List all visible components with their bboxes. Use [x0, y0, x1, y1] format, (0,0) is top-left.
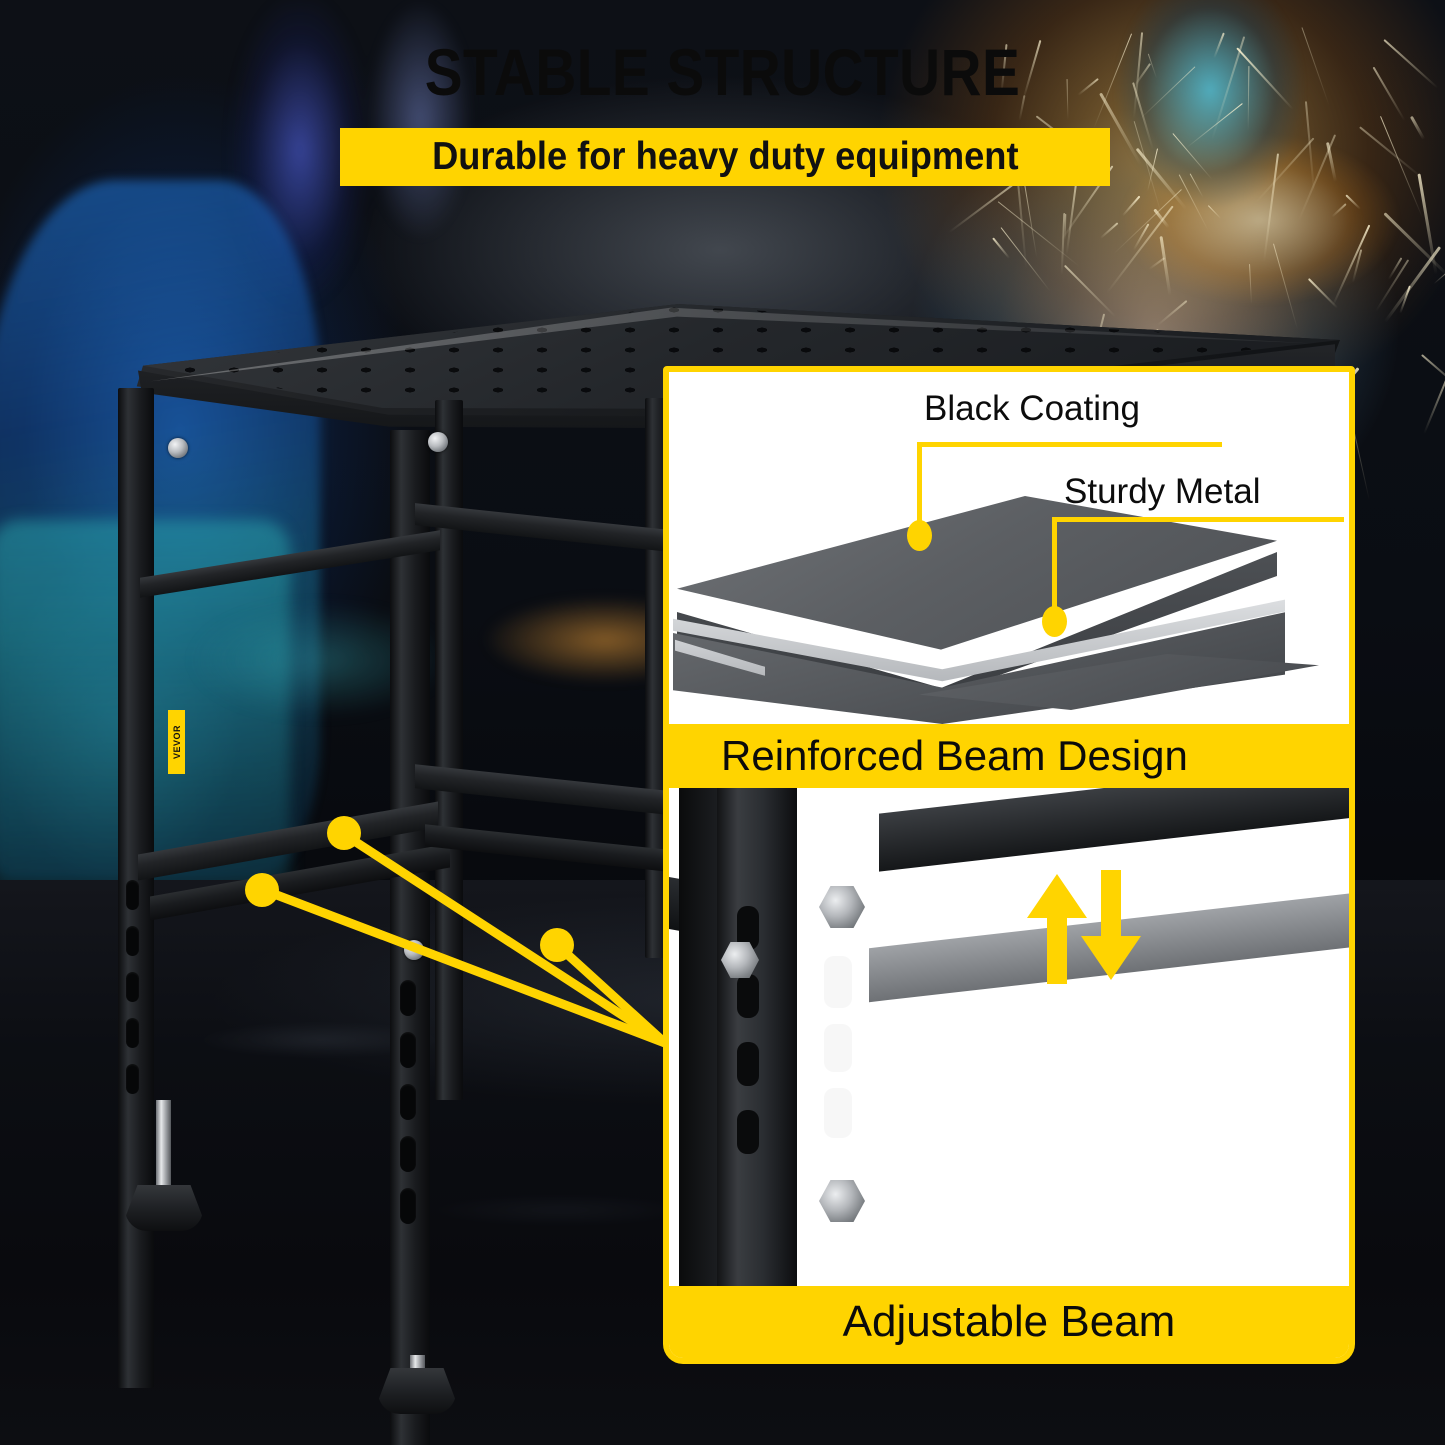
spark: [992, 237, 1010, 259]
adjustable-beam-inset: [669, 788, 1349, 1298]
arrow-down-icon: [1081, 870, 1141, 980]
adjust-arrows: [1019, 866, 1149, 986]
callout-dot-black-coating: [907, 520, 932, 551]
spark: [1100, 222, 1119, 239]
callout-label-sturdy-metal: Sturdy Metal: [1064, 472, 1260, 512]
spark: [1423, 376, 1445, 434]
leg-slot: [400, 1136, 416, 1172]
callout-dot-sturdy-metal: [1042, 606, 1067, 637]
callout-stem-black-coating: [917, 442, 922, 526]
leg-slot: [400, 1188, 416, 1224]
leveling-stem-left: [156, 1100, 171, 1196]
product-marketing-image: STABLE STRUCTURE Durable for heavy duty …: [0, 0, 1445, 1445]
page-title: STABLE STRUCTURE: [101, 34, 1344, 110]
spark: [1263, 154, 1279, 263]
arrow-up-icon: [1027, 874, 1087, 984]
spark: [1023, 182, 1037, 258]
spark: [1384, 39, 1439, 88]
reinforced-beam-label: Reinforced Beam Design: [669, 732, 1188, 780]
spark: [1113, 189, 1182, 255]
callout-stem-sturdy-metal: [1052, 517, 1057, 614]
inset-leg-side: [679, 788, 719, 1298]
inset-slot-2: [737, 974, 759, 1018]
callout-rule-black-coating: [917, 442, 1222, 447]
adjustable-beam-label: Adjustable Beam: [843, 1297, 1176, 1347]
inset-slot-4: [737, 1110, 759, 1154]
leveling-foot-right: [378, 1368, 456, 1414]
vevor-logo-text: VEVOR: [172, 725, 182, 759]
subtitle-banner: Durable for heavy duty equipment: [340, 128, 1110, 186]
callout-rule-sturdy-metal: [1052, 517, 1344, 522]
spark: [1359, 126, 1423, 179]
reinforced-beam-banner: Reinforced Beam Design: [669, 724, 1349, 788]
leg-slot: [400, 980, 416, 1016]
leg-slot: [400, 1084, 416, 1120]
spark: [1331, 203, 1346, 217]
leg-slot: [400, 1032, 416, 1068]
adjustable-beam-banner: Adjustable Beam: [669, 1286, 1349, 1358]
spark: [1208, 206, 1221, 220]
inset-beam-black: [879, 788, 1349, 872]
feature-detail-panel: Black Coating Sturdy Metal Reinforced Be…: [663, 366, 1355, 1364]
inset-slot-7: [824, 1088, 852, 1138]
spark: [1345, 194, 1361, 209]
callout-label-black-coating: Black Coating: [924, 389, 1140, 429]
subtitle-text: Durable for heavy duty equipment: [432, 135, 1018, 179]
spark: [1373, 67, 1406, 121]
spark: [1410, 116, 1425, 140]
leveling-foot-left: [125, 1185, 203, 1231]
vevor-logo-badge: VEVOR: [168, 710, 185, 774]
spark: [1189, 173, 1203, 197]
inset-slot-5: [824, 956, 852, 1008]
inset-bolt-lower: [819, 1180, 865, 1222]
spark: [1421, 354, 1445, 389]
inset-slot-3: [737, 1042, 759, 1086]
spark: [1352, 249, 1362, 283]
spark: [1122, 196, 1141, 217]
inset-leg-post: [717, 788, 797, 1298]
inset-slot-6: [824, 1024, 852, 1072]
material-cutaway-inset: Black Coating Sturdy Metal: [669, 372, 1349, 724]
inset-bolt-upper: [819, 886, 865, 928]
spark: [1173, 132, 1214, 179]
spark: [1255, 138, 1314, 203]
